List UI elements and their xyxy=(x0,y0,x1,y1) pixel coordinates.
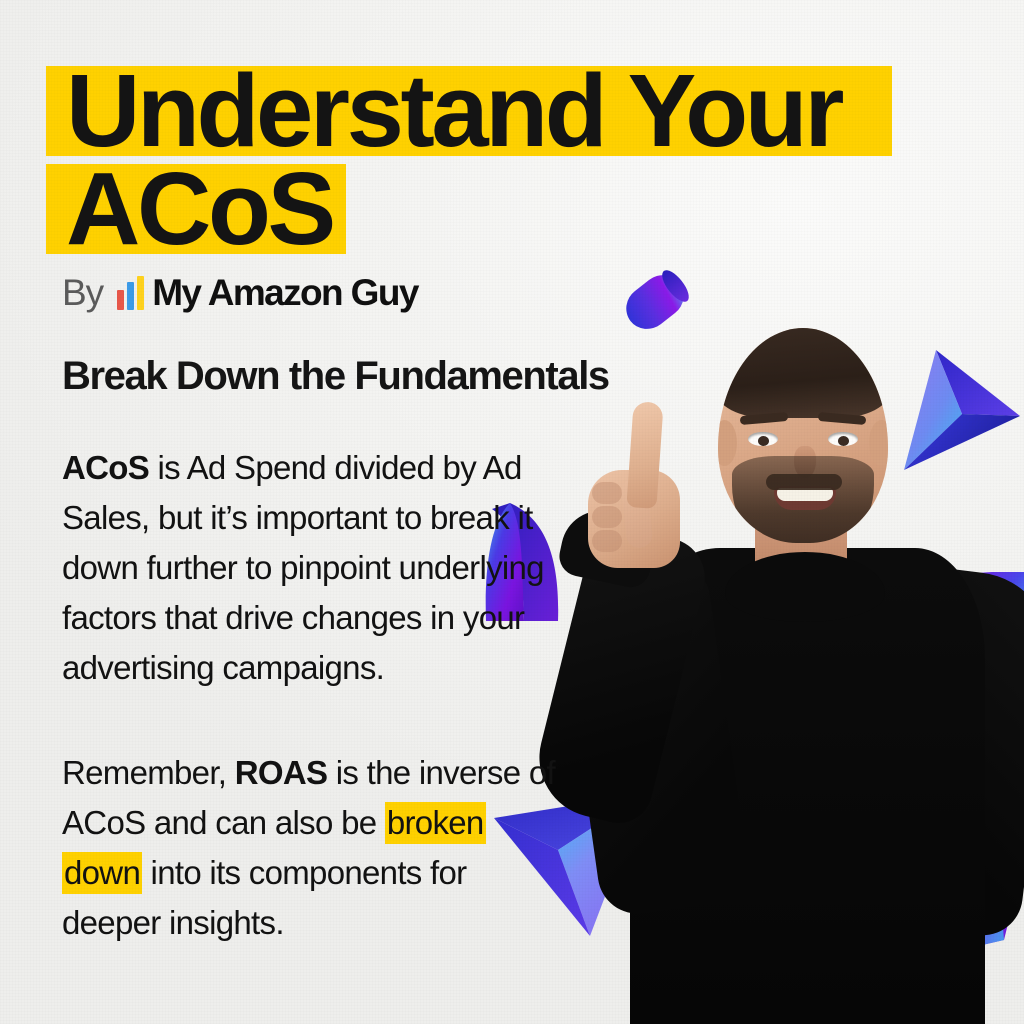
paragraph-roas: Remember, ROAS is the inverse of ACoS an… xyxy=(62,748,562,948)
bold-term: ACoS xyxy=(62,449,149,486)
knuckle-1 xyxy=(592,482,622,504)
byline-prefix: By xyxy=(62,272,103,314)
text-run: Remember, xyxy=(62,754,235,791)
brand-name: My Amazon Guy xyxy=(152,276,418,310)
title-line-1-text: Understand Your xyxy=(60,62,841,160)
ear-right xyxy=(869,420,888,466)
pupil-left xyxy=(758,436,769,446)
eye-left xyxy=(748,432,778,446)
eye-right xyxy=(828,432,858,446)
bar-chart-logo-icon xyxy=(117,276,144,310)
head xyxy=(718,328,888,543)
logo-bar-red xyxy=(117,290,124,310)
bold-term: ROAS xyxy=(235,754,328,791)
hand-pointing-up xyxy=(580,408,688,568)
hair xyxy=(718,328,888,418)
logo-bar-yellow xyxy=(137,276,144,310)
pupil-right xyxy=(838,436,849,446)
paragraph-acos: ACoS is Ad Spend divided by Ad Sales, bu… xyxy=(62,443,562,693)
page-title-line-2: ACoS xyxy=(60,160,333,258)
subheading: Break Down the Fundamentals xyxy=(62,354,609,399)
title-line-2-text: ACoS xyxy=(60,160,333,258)
page-title-line-1: Understand Your xyxy=(60,62,841,160)
knuckle-2 xyxy=(592,506,622,528)
brand-lockup: My Amazon Guy xyxy=(117,276,418,310)
knuckle-3 xyxy=(592,530,622,552)
mustache xyxy=(766,474,842,490)
byline: By My Amazon Guy xyxy=(62,272,418,314)
logo-bar-blue xyxy=(127,282,134,310)
ear-left xyxy=(718,420,737,466)
poster-canvas: Understand Your ACoS By My Amazon Guy Br… xyxy=(0,0,1024,1024)
